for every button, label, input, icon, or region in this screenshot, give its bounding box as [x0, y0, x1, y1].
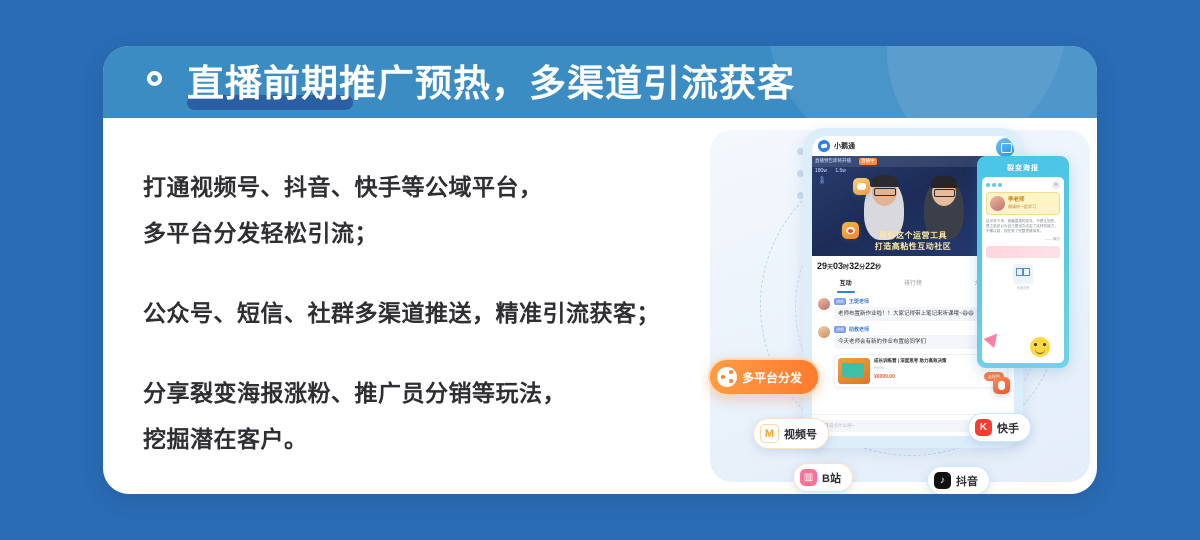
poster-signature: —— 简历: [986, 237, 1060, 242]
poster-highlight-bar: [986, 246, 1060, 258]
shipinhao-icon: M: [760, 424, 779, 443]
product-thumbnail: [838, 358, 870, 384]
app-logo-icon: [818, 140, 830, 152]
fission-poster-panel: 裂变海报 ✕ 李老师 邀请你一起学习: [977, 156, 1069, 368]
copy-paragraph-1: 打通视频号、抖音、快手等公域平台， 多平台分发轻松引流；: [143, 164, 703, 256]
poster-body-text: 这半年下来，我最直观的变化，不是认知的，是之前总以为自己是没办法定了这样的能力，…: [986, 219, 1060, 235]
page-title: 直播前期推广预热，多渠道引流获客: [187, 54, 795, 114]
copy-block: 打通视频号、抖音、快手等公域平台， 多平台分发轻松引流； 公众号、短信、社群多渠…: [143, 164, 703, 462]
copy-paragraph-3: 分享裂变海报涨粉、推广员分销等玩法， 挖掘潜在客户。: [143, 370, 703, 462]
invite-subtitle: 邀请你一起学习: [1008, 204, 1036, 210]
role-badge: 讲师: [834, 326, 846, 333]
qq-mini-icon: [993, 377, 1010, 394]
tab-leaderboard[interactable]: 排行榜: [879, 276, 946, 294]
pill-label: 快手: [997, 420, 1019, 436]
douyin-icon: ♪: [934, 472, 951, 489]
countdown-seconds-unit: 秒: [875, 265, 881, 271]
poster-card: ✕ 李老师 邀请你一起学习 这半年下来，我最直观的变化，不是认知的，是之前总以为…: [982, 177, 1064, 363]
copy-paragraph-2: 公众号、短信、社群多渠道推送，精准引流获客；: [143, 290, 703, 336]
pill-label: B站: [822, 470, 841, 486]
dot-decor: [998, 183, 1002, 187]
page-title-wrap: 直播前期推广预热，多渠道引流获客: [187, 54, 795, 114]
hero-meta: 180w 1.5w: [815, 168, 853, 174]
kuaishou-icon: K: [975, 419, 992, 436]
header-decor-arc-inner: [887, 46, 1097, 118]
avatar: [990, 196, 1005, 211]
chat-input[interactable]: 说点什么吧~: [817, 420, 978, 432]
bilibili-mini-icon: [853, 178, 870, 195]
pill-label: 抖音: [956, 473, 978, 489]
poster-title: 裂变海报: [982, 163, 1064, 173]
countdown-hours: 03: [833, 261, 843, 271]
close-icon[interactable]: ✕: [1052, 181, 1060, 189]
card-header: 直播前期推广预热，多渠道引流获客: [103, 46, 1097, 118]
app-bar: 小鹅通: [812, 136, 1014, 156]
pill-kuaishou[interactable]: K 快手: [968, 413, 1031, 442]
tab-interaction[interactable]: 互动: [812, 276, 879, 294]
pill-label: 视频号: [784, 426, 817, 442]
copy-line: 分享裂变海报涨粉、推广员分销等玩法，: [143, 370, 703, 416]
bilibili-icon: ▥: [800, 469, 817, 486]
speaker-hair-1: [871, 175, 898, 187]
copy-line: 多平台分发轻松引流；: [143, 210, 703, 256]
product-price: ¥6999.00: [874, 374, 895, 380]
glasses-icon-1: [874, 188, 896, 196]
live-badge: 直播中: [859, 158, 877, 165]
view-count: 180w: [815, 168, 827, 174]
sender-name: 王斑老师: [849, 298, 869, 305]
pill-multi-platform-distribute[interactable]: 多平台分发: [708, 358, 820, 396]
avatar: [818, 298, 830, 310]
hero-tag: 直播预告即将开播: [815, 158, 851, 164]
smiley-icon: [1030, 337, 1050, 357]
app-name: 小鹅通: [834, 141, 855, 151]
pill-shipinhao[interactable]: M 视频号: [753, 418, 829, 449]
glasses-icon-2: [934, 189, 955, 197]
content-card: 直播前期推广预热，多渠道引流获客 打通视频号、抖音、快手等公域平台， 多平台分发…: [103, 46, 1097, 494]
arrow-icon: [983, 329, 1002, 348]
sender-name: 助教老师: [849, 326, 869, 333]
countdown-seconds: 22: [865, 261, 875, 271]
pill-douyin[interactable]: ♪ 抖音: [927, 466, 990, 494]
weibo-mini-icon: [842, 222, 859, 239]
countdown-minutes: 32: [849, 261, 859, 271]
countdown-days: 29: [817, 261, 827, 271]
illustration: 小鹅通 直播预告即将开播 直播中 180w 1.5w 名师 教研: [700, 118, 1097, 494]
avatar: [818, 326, 830, 338]
hero-side-left: 名师: [816, 176, 825, 184]
poster-invite-block: 李老师 邀请你一起学习: [986, 192, 1060, 215]
copy-line: 公众号、短信、社群多渠道推送，精准引流获客；: [143, 290, 703, 336]
poster-card-titlebar: ✕: [986, 181, 1060, 189]
role-badge: 讲师: [834, 298, 846, 305]
invite-name: 李老师: [1008, 197, 1036, 204]
pill-label: 多平台分发: [742, 369, 802, 386]
copy-line: 挖掘潜在客户。: [143, 416, 703, 462]
slide-root: 直播前期推广预热，多渠道引流获客 打通视频号、抖音、快手等公域平台， 多平台分发…: [0, 0, 1200, 540]
dot-decor: [992, 183, 996, 187]
countdown-timer: 29天03时32分22秒: [817, 261, 881, 271]
copy-line: 打通视频号、抖音、快手等公域平台，: [143, 164, 703, 210]
ring-bullet-icon: [147, 71, 162, 86]
like-count: 1.5w: [835, 168, 846, 174]
speaker-hair-2: [931, 176, 957, 188]
pill-bilibili[interactable]: ▥ B站: [793, 463, 853, 492]
qr-label: 长按识别: [986, 285, 1060, 290]
dot-decor: [986, 183, 990, 187]
share-nodes-icon: [717, 367, 737, 387]
share-icon[interactable]: [996, 138, 1014, 157]
qr-code-icon: [1013, 264, 1033, 284]
